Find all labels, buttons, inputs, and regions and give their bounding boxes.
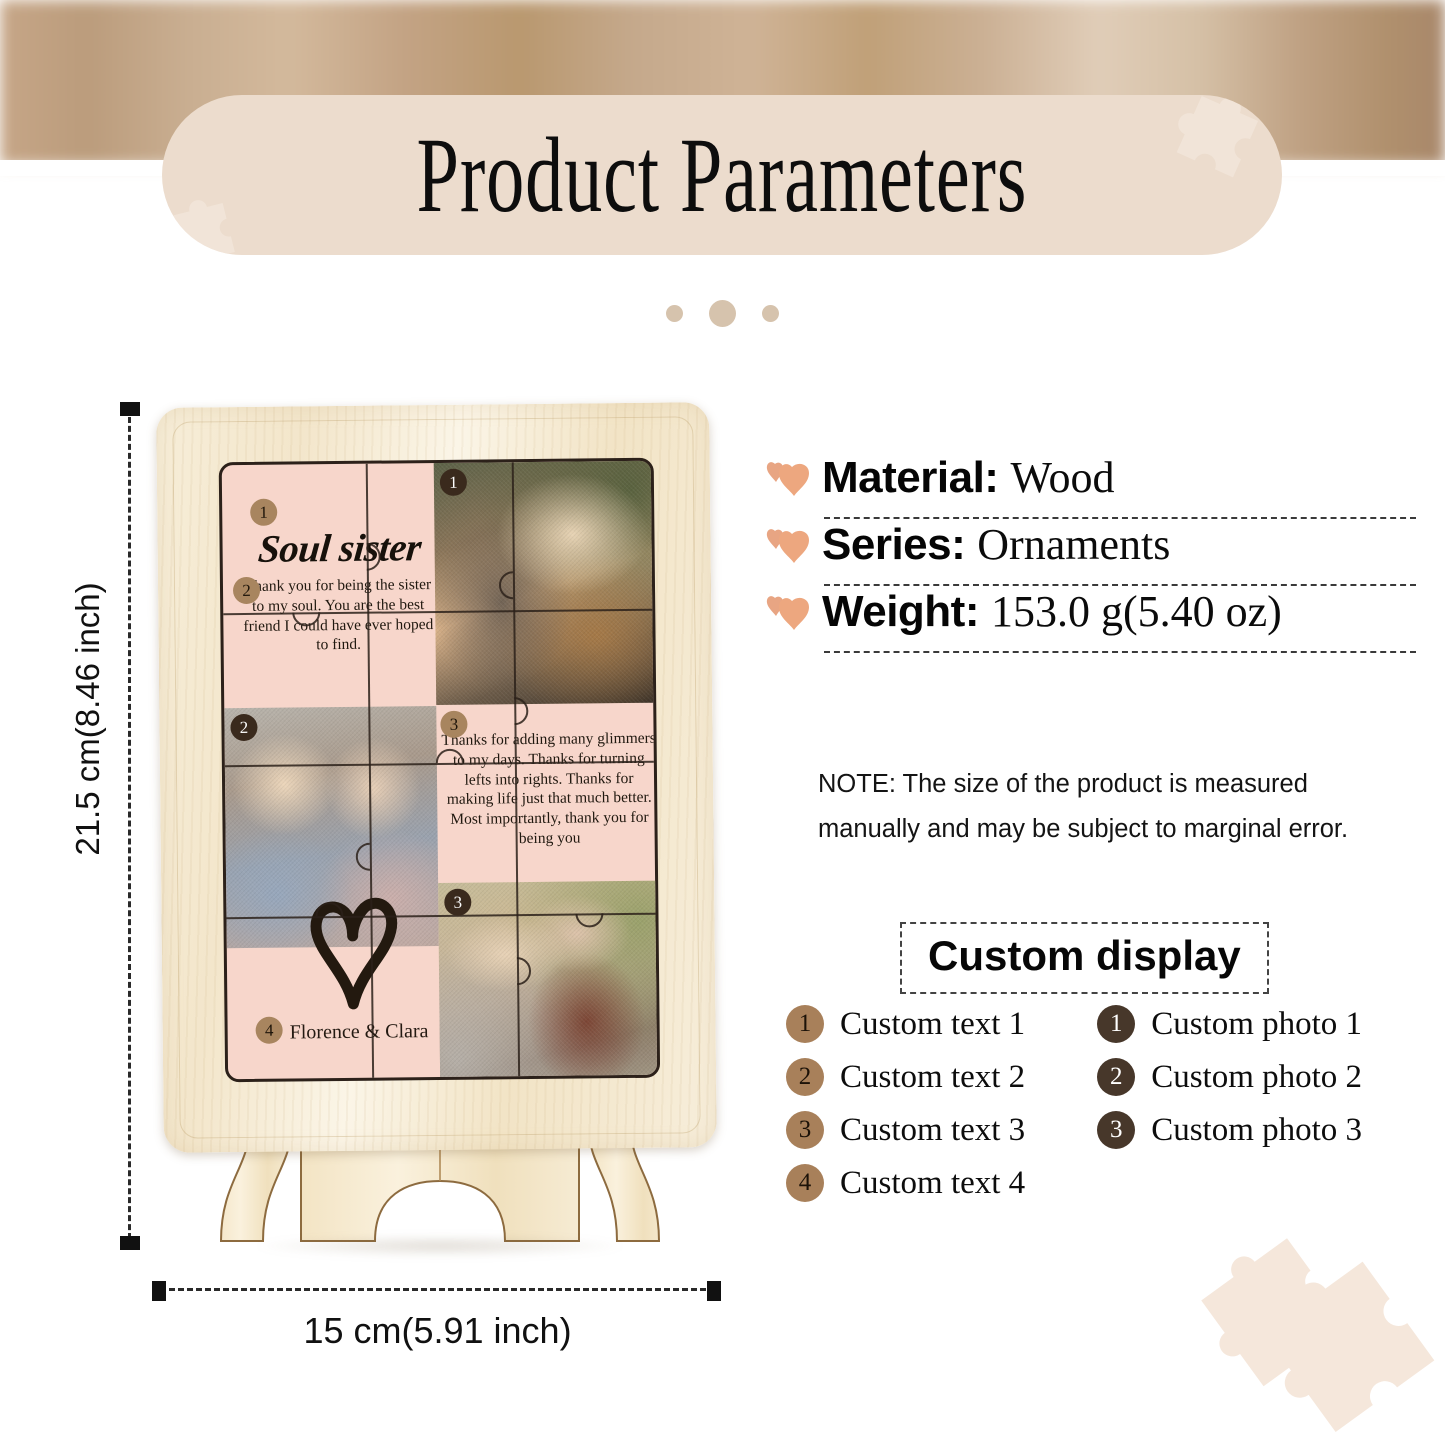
puzzle-message-2: Thanks for adding many glimmers to my da… <box>441 729 658 850</box>
photo-item-label: Custom photo 2 <box>1151 1059 1362 1096</box>
list-item: 3 Custom text 3 <box>786 1111 1025 1149</box>
spec-row-weight: Weight: 153.0 g(5.40 oz) <box>766 586 1366 651</box>
spec-list: Material: Wood Series: Ornaments Weight:… <box>766 452 1366 653</box>
list-item: 2 Custom photo 2 <box>1097 1058 1362 1096</box>
text-item-badge: 4 <box>786 1164 824 1202</box>
height-dimension-label: 21.5 cm(8.46 inch) <box>69 569 107 869</box>
width-dimension-label: 15 cm(5.91 inch) <box>160 1310 715 1352</box>
puzzle-pieces-decoration-icon <box>1195 1235 1445 1445</box>
dimension-cap <box>707 1281 721 1301</box>
text-badge-4: 4 <box>255 1017 282 1044</box>
text-item-badge: 3 <box>786 1111 824 1149</box>
separator-dot <box>709 300 736 327</box>
text-badge-2: 2 <box>233 577 260 604</box>
spec-divider <box>824 651 1416 653</box>
spec-key: Material: <box>822 453 998 503</box>
stand-shadow <box>255 1235 625 1257</box>
dot-separator <box>0 300 1445 327</box>
photo-item-badge: 2 <box>1097 1058 1135 1096</box>
list-item: 2 Custom text 2 <box>786 1058 1025 1096</box>
separator-dot <box>666 305 683 322</box>
page-title-banner: Product Parameters <box>162 95 1282 255</box>
double-heart-icon <box>766 525 810 565</box>
photo-badge-1: 1 <box>440 469 467 496</box>
photo-grain <box>434 461 660 705</box>
custom-text-list: 1 Custom text 1 2 Custom text 2 3 Custom… <box>786 1005 1025 1202</box>
text-item-label: Custom text 3 <box>840 1112 1025 1149</box>
puzzle-message-1: Thank you for being the sister to my sou… <box>241 575 436 656</box>
custom-display-lists: 1 Custom text 1 2 Custom text 2 3 Custom… <box>786 1005 1386 1202</box>
custom-photo-3 <box>438 881 660 1083</box>
text-badge-1: 1 <box>250 499 277 526</box>
list-item: 3 Custom photo 3 <box>1097 1111 1362 1149</box>
text-item-label: Custom text 1 <box>840 1006 1025 1043</box>
width-dimension-line <box>160 1288 715 1291</box>
list-item: 1 Custom photo 1 <box>1097 1005 1362 1043</box>
heart-doodle-icon <box>304 891 401 1010</box>
text-item-badge: 1 <box>786 1005 824 1043</box>
dimension-cap <box>120 1236 140 1250</box>
text-item-label: Custom text 4 <box>840 1165 1025 1202</box>
spec-row-material: Material: Wood <box>766 452 1366 517</box>
photo-item-label: Custom photo 1 <box>1151 1006 1362 1043</box>
spec-value: 153.0 g(5.40 oz) <box>991 586 1282 637</box>
double-heart-icon <box>766 458 810 498</box>
text-item-badge: 2 <box>786 1058 824 1096</box>
photo-puzzle: 1 2 3 1 Soul sister 2 Thank you for bein… <box>219 458 660 1083</box>
separator-dot <box>762 305 779 322</box>
photo-grain <box>438 881 660 1083</box>
photo-item-badge: 3 <box>1097 1111 1135 1149</box>
note-text: NOTE: The size of the product is measure… <box>818 762 1378 851</box>
custom-display-heading: Custom display <box>900 922 1269 994</box>
photo-item-label: Custom photo 3 <box>1151 1112 1362 1149</box>
puzzle-signature: Florence & Clara <box>290 1020 429 1044</box>
custom-photo-list: 1 Custom photo 1 2 Custom photo 2 3 Cust… <box>1097 1005 1362 1202</box>
double-heart-icon <box>766 592 810 632</box>
custom-display-heading-label: Custom display <box>928 932 1241 979</box>
spec-value: Ornaments <box>977 519 1170 570</box>
list-item: 4 Custom text 4 <box>786 1164 1025 1202</box>
height-dimension-line <box>128 408 131 1248</box>
dimension-cap <box>152 1281 166 1301</box>
list-item: 1 Custom text 1 <box>786 1005 1025 1043</box>
wooden-plaque: 1 2 3 1 Soul sister 2 Thank you for bein… <box>156 402 717 1153</box>
photo-badge-3: 3 <box>444 889 471 916</box>
photo-item-badge: 1 <box>1097 1005 1135 1043</box>
puzzle-piece-icon <box>162 169 268 255</box>
text-item-label: Custom text 2 <box>840 1059 1025 1096</box>
dimension-cap <box>120 402 140 416</box>
page-title: Product Parameters <box>417 114 1028 237</box>
spec-value: Wood <box>1010 452 1114 503</box>
custom-photo-1 <box>434 461 660 705</box>
spec-key: Series: <box>822 520 965 570</box>
photo-badge-2: 2 <box>230 714 257 741</box>
spec-key: Weight: <box>822 587 979 637</box>
puzzle-script-title: Soul sister <box>244 523 435 575</box>
text-badge-3: 3 <box>440 711 467 738</box>
puzzle-piece-icon <box>1160 95 1282 207</box>
spec-row-series: Series: Ornaments <box>766 519 1366 584</box>
